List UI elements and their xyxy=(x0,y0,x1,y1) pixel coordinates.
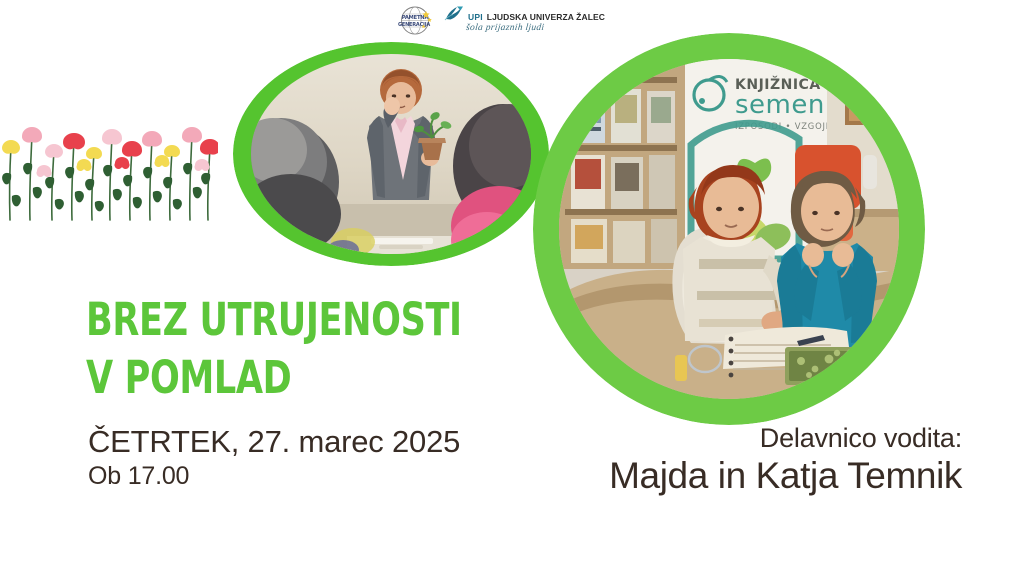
photo-inner-crop: KNJIŽNICA semen IZPOSODI • VZGOJI • DELI xyxy=(559,59,899,399)
svg-text:semen: semen xyxy=(735,90,825,120)
spring-flowers-illustration xyxy=(0,112,218,224)
headline: BREZ UTRUJENOSTI V POMLAD xyxy=(86,297,516,413)
photo-inner-crop xyxy=(251,54,531,254)
event-date: ČETRTEK, 27. marec 2025 xyxy=(88,424,528,461)
presenters-label: Delavnico vodita: xyxy=(482,422,962,454)
poster-canvas: PAMETNA GENERACIJA UPI LJUDSKA UNIVERZA … xyxy=(0,0,1024,575)
upi-bird-mark-icon xyxy=(444,5,464,21)
headline-line-2: V POMLAD xyxy=(86,355,421,401)
headline-line-1: BREZ UTRUJENOSTI xyxy=(86,297,421,343)
presenters-names: Majda in Katja Temnik xyxy=(482,454,962,498)
event-time: Ob 17.00 xyxy=(88,461,528,492)
svg-text:GENERACIJA: GENERACIJA xyxy=(398,22,430,28)
photo-two-women-with-seed-notebook: KNJIŽNICA semen IZPOSODI • VZGOJI • DELI xyxy=(533,33,925,425)
event-datetime: ČETRTEK, 27. marec 2025 Ob 17.00 xyxy=(88,424,528,492)
pametna-generacija-globe-logo: PAMETNA GENERACIJA xyxy=(398,2,436,38)
header-logo-bar: PAMETNA GENERACIJA UPI LJUDSKA UNIVERZA … xyxy=(398,2,618,40)
upi-tagline: šola prijaznih ljudi xyxy=(465,23,618,33)
upi-abbreviation: UPI xyxy=(468,13,483,22)
upi-full-name: LJUDSKA UNIVERZA ŽALEC xyxy=(487,13,605,22)
upi-ljudska-univerza-zalec-logo: UPI LJUDSKA UNIVERZA ŽALEC šola prijazni… xyxy=(444,2,618,33)
presenters-block: Delavnico vodita: Majda in Katja Temnik xyxy=(482,422,962,498)
photo-presenter-with-plant xyxy=(233,42,549,266)
